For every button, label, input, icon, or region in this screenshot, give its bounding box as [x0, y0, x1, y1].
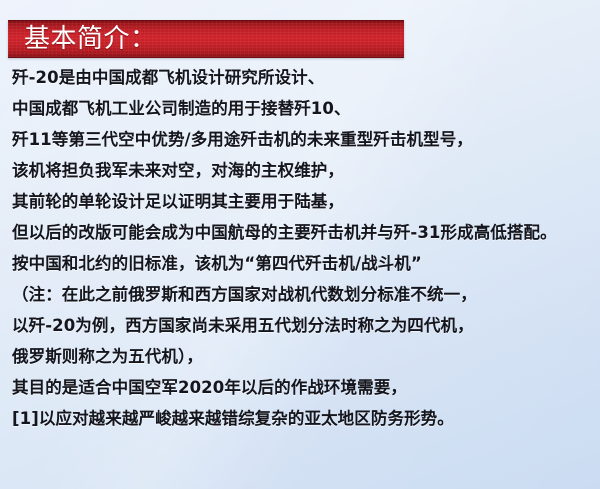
body-line: （注：在此之前俄罗斯和西方国家对战机代数划分标准不统一， [12, 279, 596, 310]
body-line: 其目的是适合中国空军2020年以后的作战环境需要， [12, 372, 596, 403]
body-paragraph-block: 歼-20是由中国成都飞机设计研究所设计、 中国成都飞机工业公司制造的用于接替歼1… [12, 62, 596, 434]
body-line: 但以后的改版可能会成为中国航母的主要歼击机并与歼-31形成高低搭配。 [12, 217, 596, 248]
body-line: 按中国和北约的旧标准，该机为“第四代歼击机/战斗机” [12, 248, 596, 279]
body-line: 以歼-20为例，西方国家尚未采用五代划分法时称之为四代机， [12, 310, 596, 341]
body-line: [1]以应对越来越严峻越来越错综复杂的亚太地区防务形势。 [12, 403, 596, 434]
body-line: 歼11等第三代空中优势/多用途歼击机的未来重型歼击机型号， [12, 124, 596, 155]
body-line: 其前轮的单轮设计足以证明其主要用于陆基， [12, 186, 596, 217]
body-line: 俄罗斯则称之为五代机）， [12, 341, 596, 372]
body-line: 该机将担负我军未来对空，对海的主权维护， [12, 155, 596, 186]
section-title-bar: 基本简介： [8, 20, 404, 58]
page-title: 基本简介： [24, 26, 157, 52]
body-line: 中国成都飞机工业公司制造的用于接替歼10、 [12, 93, 596, 124]
slide-canvas: 基本简介： 歼-20是由中国成都飞机设计研究所设计、 中国成都飞机工业公司制造的… [0, 0, 600, 489]
body-line: 歼-20是由中国成都飞机设计研究所设计、 [12, 62, 596, 93]
